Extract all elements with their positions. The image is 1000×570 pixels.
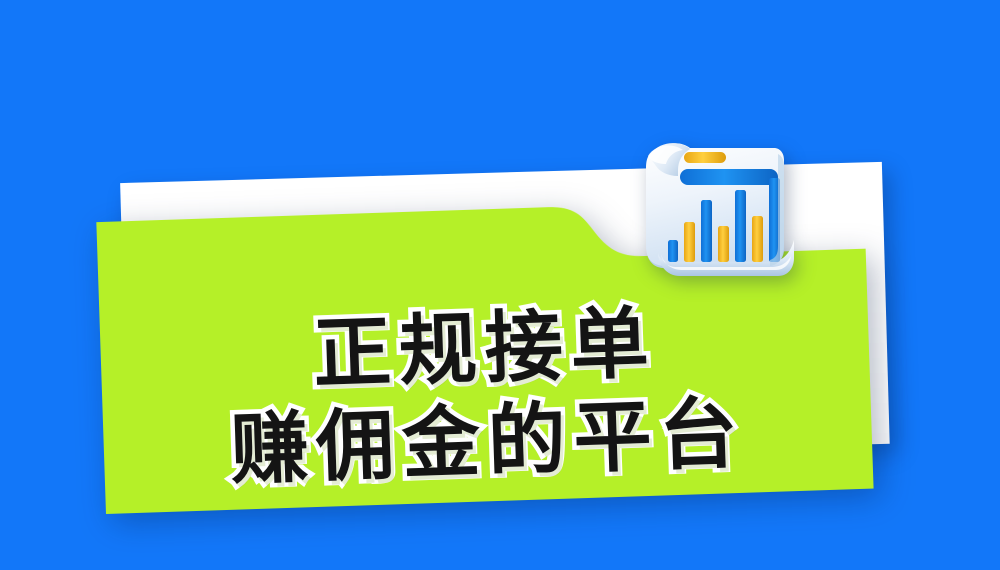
chart-bar-3	[701, 200, 712, 262]
chart-bar-4	[718, 226, 729, 262]
scroll-chart-icon	[628, 130, 798, 290]
header-bar-yellow	[684, 152, 726, 163]
chart-bar-5	[735, 190, 746, 262]
chart-bar-2	[684, 222, 695, 262]
header-bar-blue	[680, 169, 778, 185]
poster-canvas: 正规接单 赚佣金的平台	[0, 0, 1000, 570]
chart-bar-6	[752, 216, 763, 262]
chart-bar-1	[668, 240, 678, 262]
